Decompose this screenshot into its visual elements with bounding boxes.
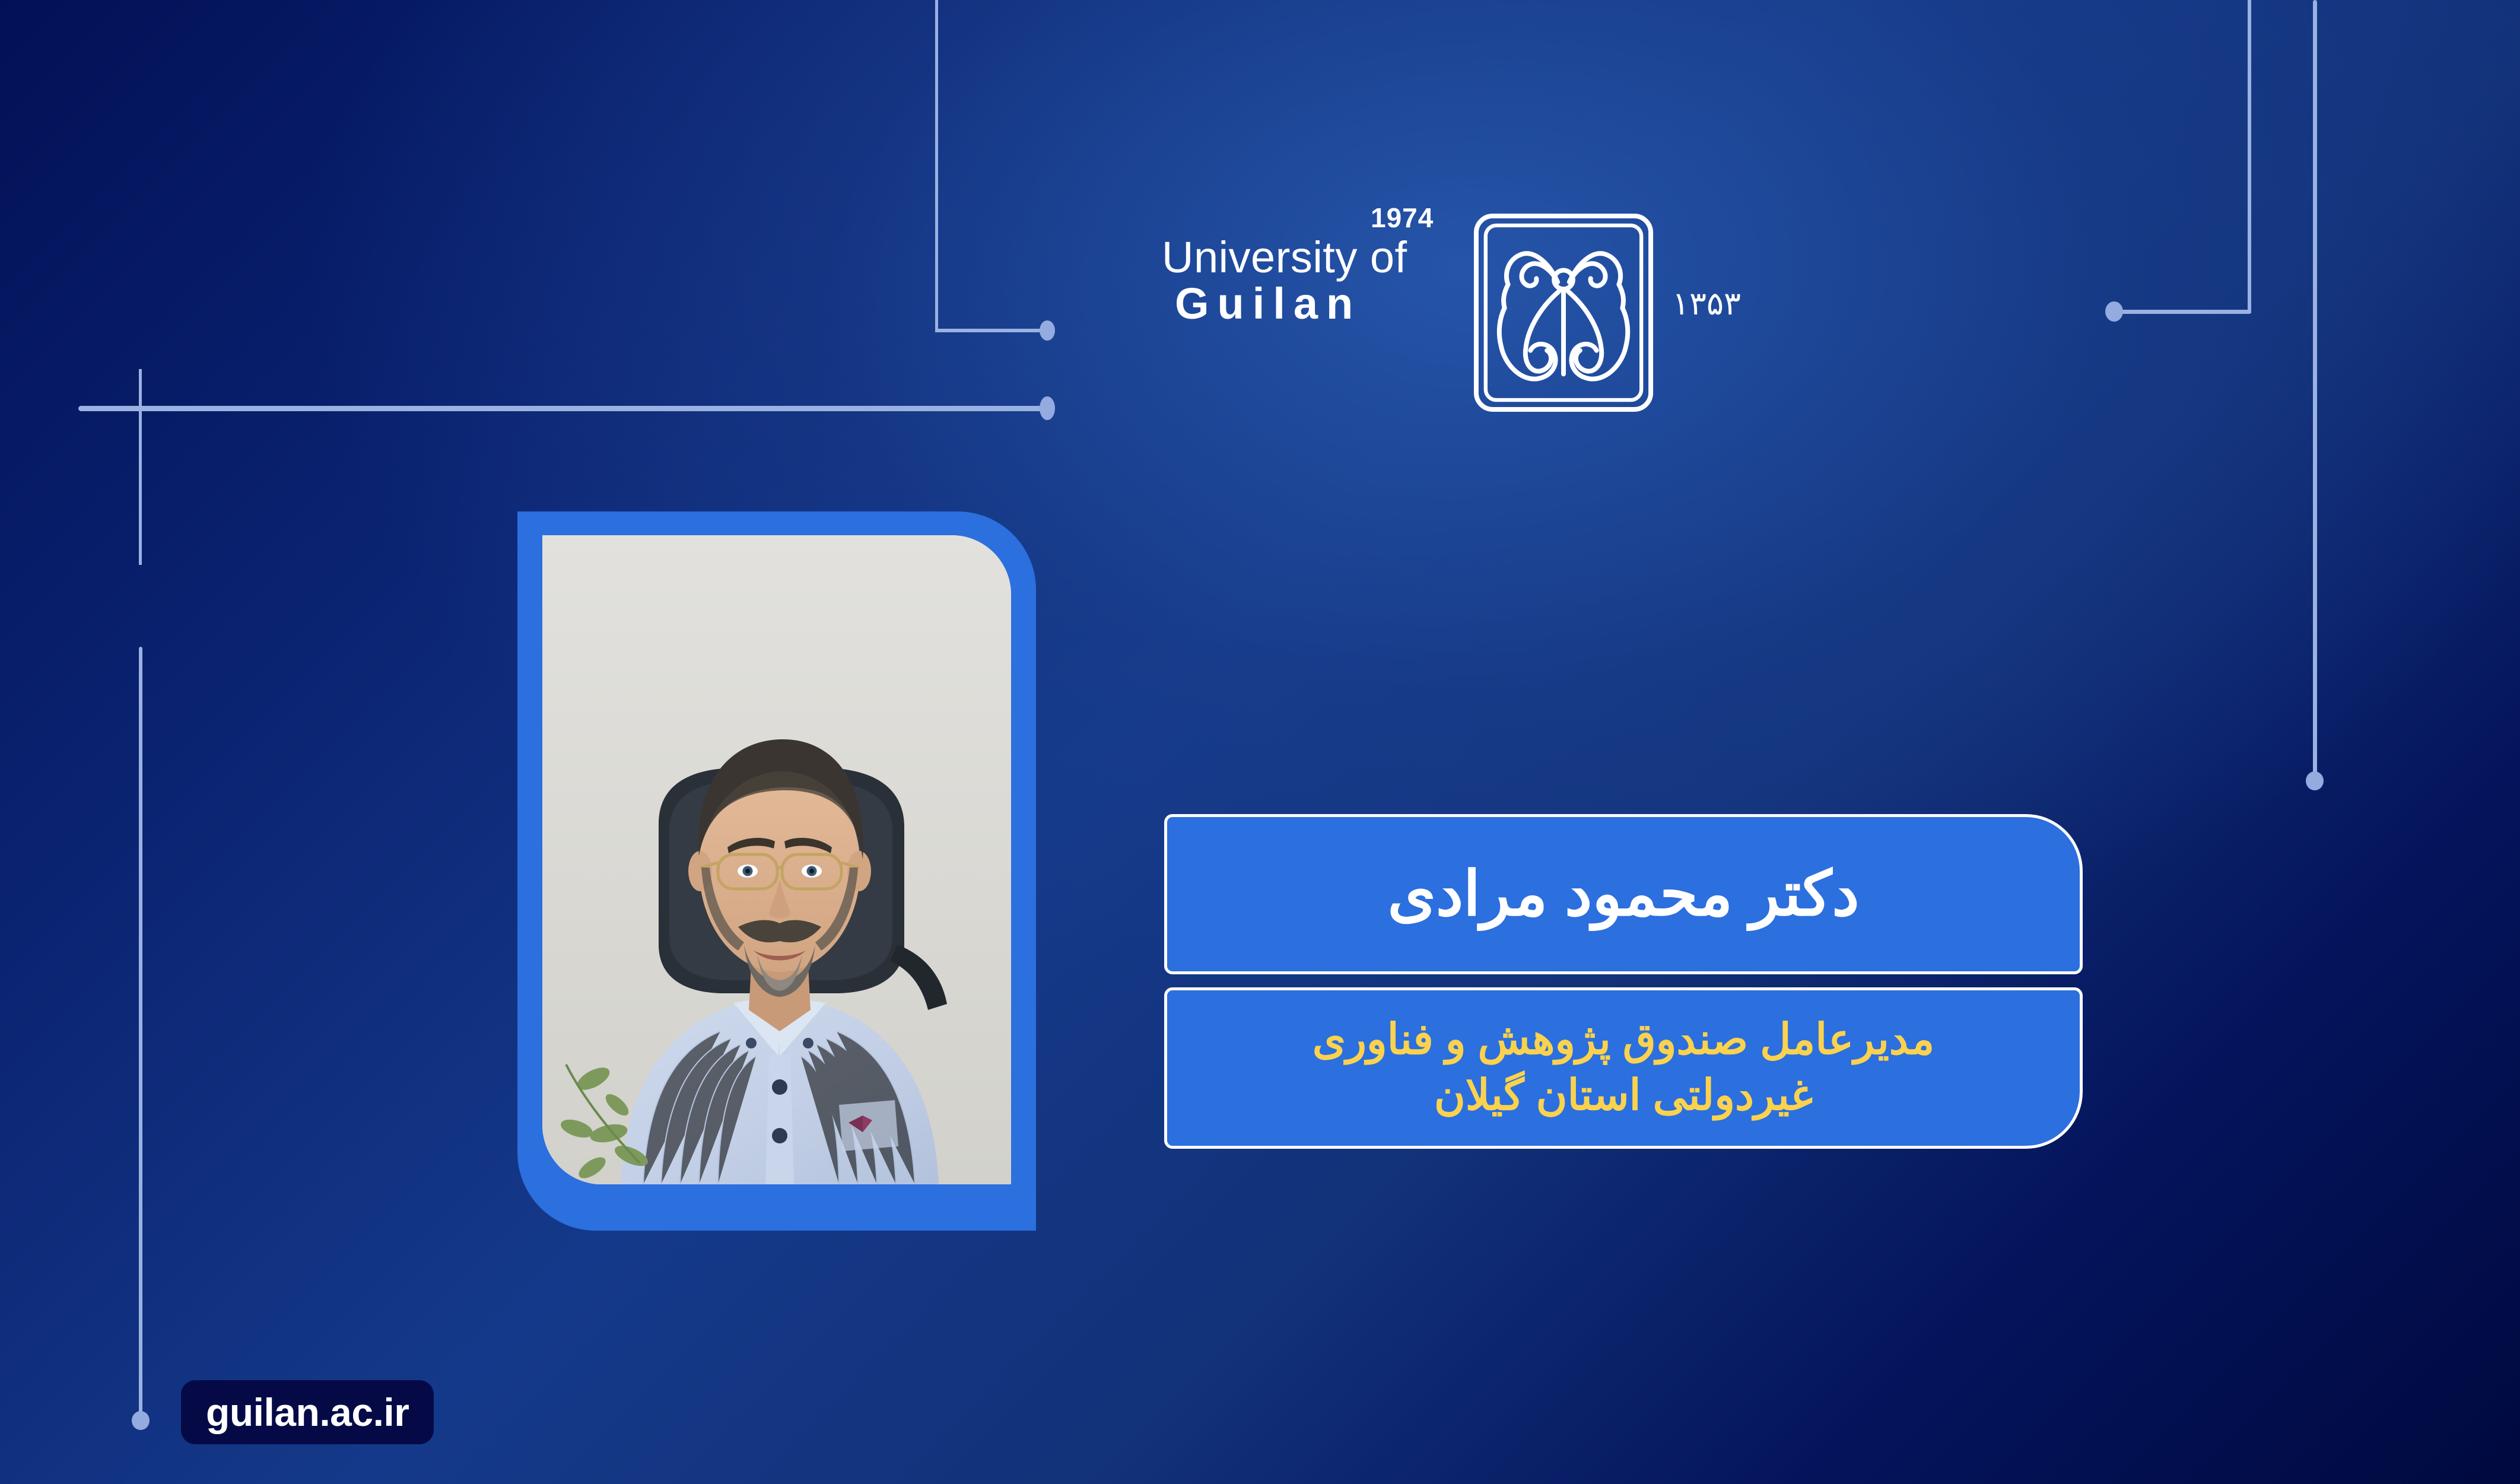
corner-line-elbow-vertical-topright: [2248, 0, 2251, 313]
logo-year-en: 1974: [1371, 202, 1434, 234]
horizontal-rule-dot-topleft: [1040, 396, 1055, 420]
person-name-banner: دکتر محمود مرادی: [1164, 814, 2083, 974]
svg-text:دانشگاه گیلان: دانشگاه گیلان: [2076, 245, 2082, 363]
person-title-text: مدیرعامل صندوق پژوهش و فناوری غیردولتی ا…: [1295, 1012, 1952, 1123]
corner-line-elbow-horizontal-topleft: [935, 329, 1048, 332]
logo-persian-name: دانشگاه گیلان: [1714, 160, 2082, 421]
vertical-rule-line-bottomleft: [139, 647, 142, 1413]
portrait-photo: [542, 535, 1011, 1184]
portrait-frame: [517, 511, 1036, 1231]
corner-line-elbow-dot-topright: [2105, 301, 2123, 322]
corner-line-elbow-vertical-topleft: [935, 0, 938, 332]
website-url-text: guilan.ac.ir: [206, 1390, 409, 1435]
university-logo: 1974 University of Guilan: [1162, 196, 2087, 445]
corner-line-elbow-dot-topleft: [1040, 320, 1055, 341]
logo-guilan-label: Guilan: [1162, 279, 1458, 329]
corner-line-elbow-horizontal-topright: [2114, 310, 2251, 314]
horizontal-rule-line-topleft: [78, 406, 1049, 411]
guilan-university-emblem-icon: [1469, 209, 1658, 417]
person-name-text: دکتر محمود مرادی: [1387, 860, 1859, 928]
logo-english-name: University of Guilan: [1162, 235, 1458, 329]
vertical-rule-line-right: [2313, 0, 2317, 777]
website-url-badge[interactable]: guilan.ac.ir: [181, 1380, 434, 1444]
person-title-banner: مدیرعامل صندوق پژوهش و فناوری غیردولتی ا…: [1164, 987, 2083, 1149]
logo-university-of-label: University of: [1162, 235, 1458, 279]
person-title-line1: مدیرعامل صندوق پژوهش و فناوری: [1313, 1016, 1934, 1063]
vertical-rule-dot-bottomleft: [132, 1411, 150, 1430]
person-title-line2: غیردولتی استان گیلان: [1434, 1072, 1813, 1119]
vertical-rule-line-topleft: [139, 369, 142, 565]
poster-canvas: 1974 University of Guilan: [0, 0, 2520, 1484]
vertical-rule-dot-right: [2306, 771, 2324, 790]
